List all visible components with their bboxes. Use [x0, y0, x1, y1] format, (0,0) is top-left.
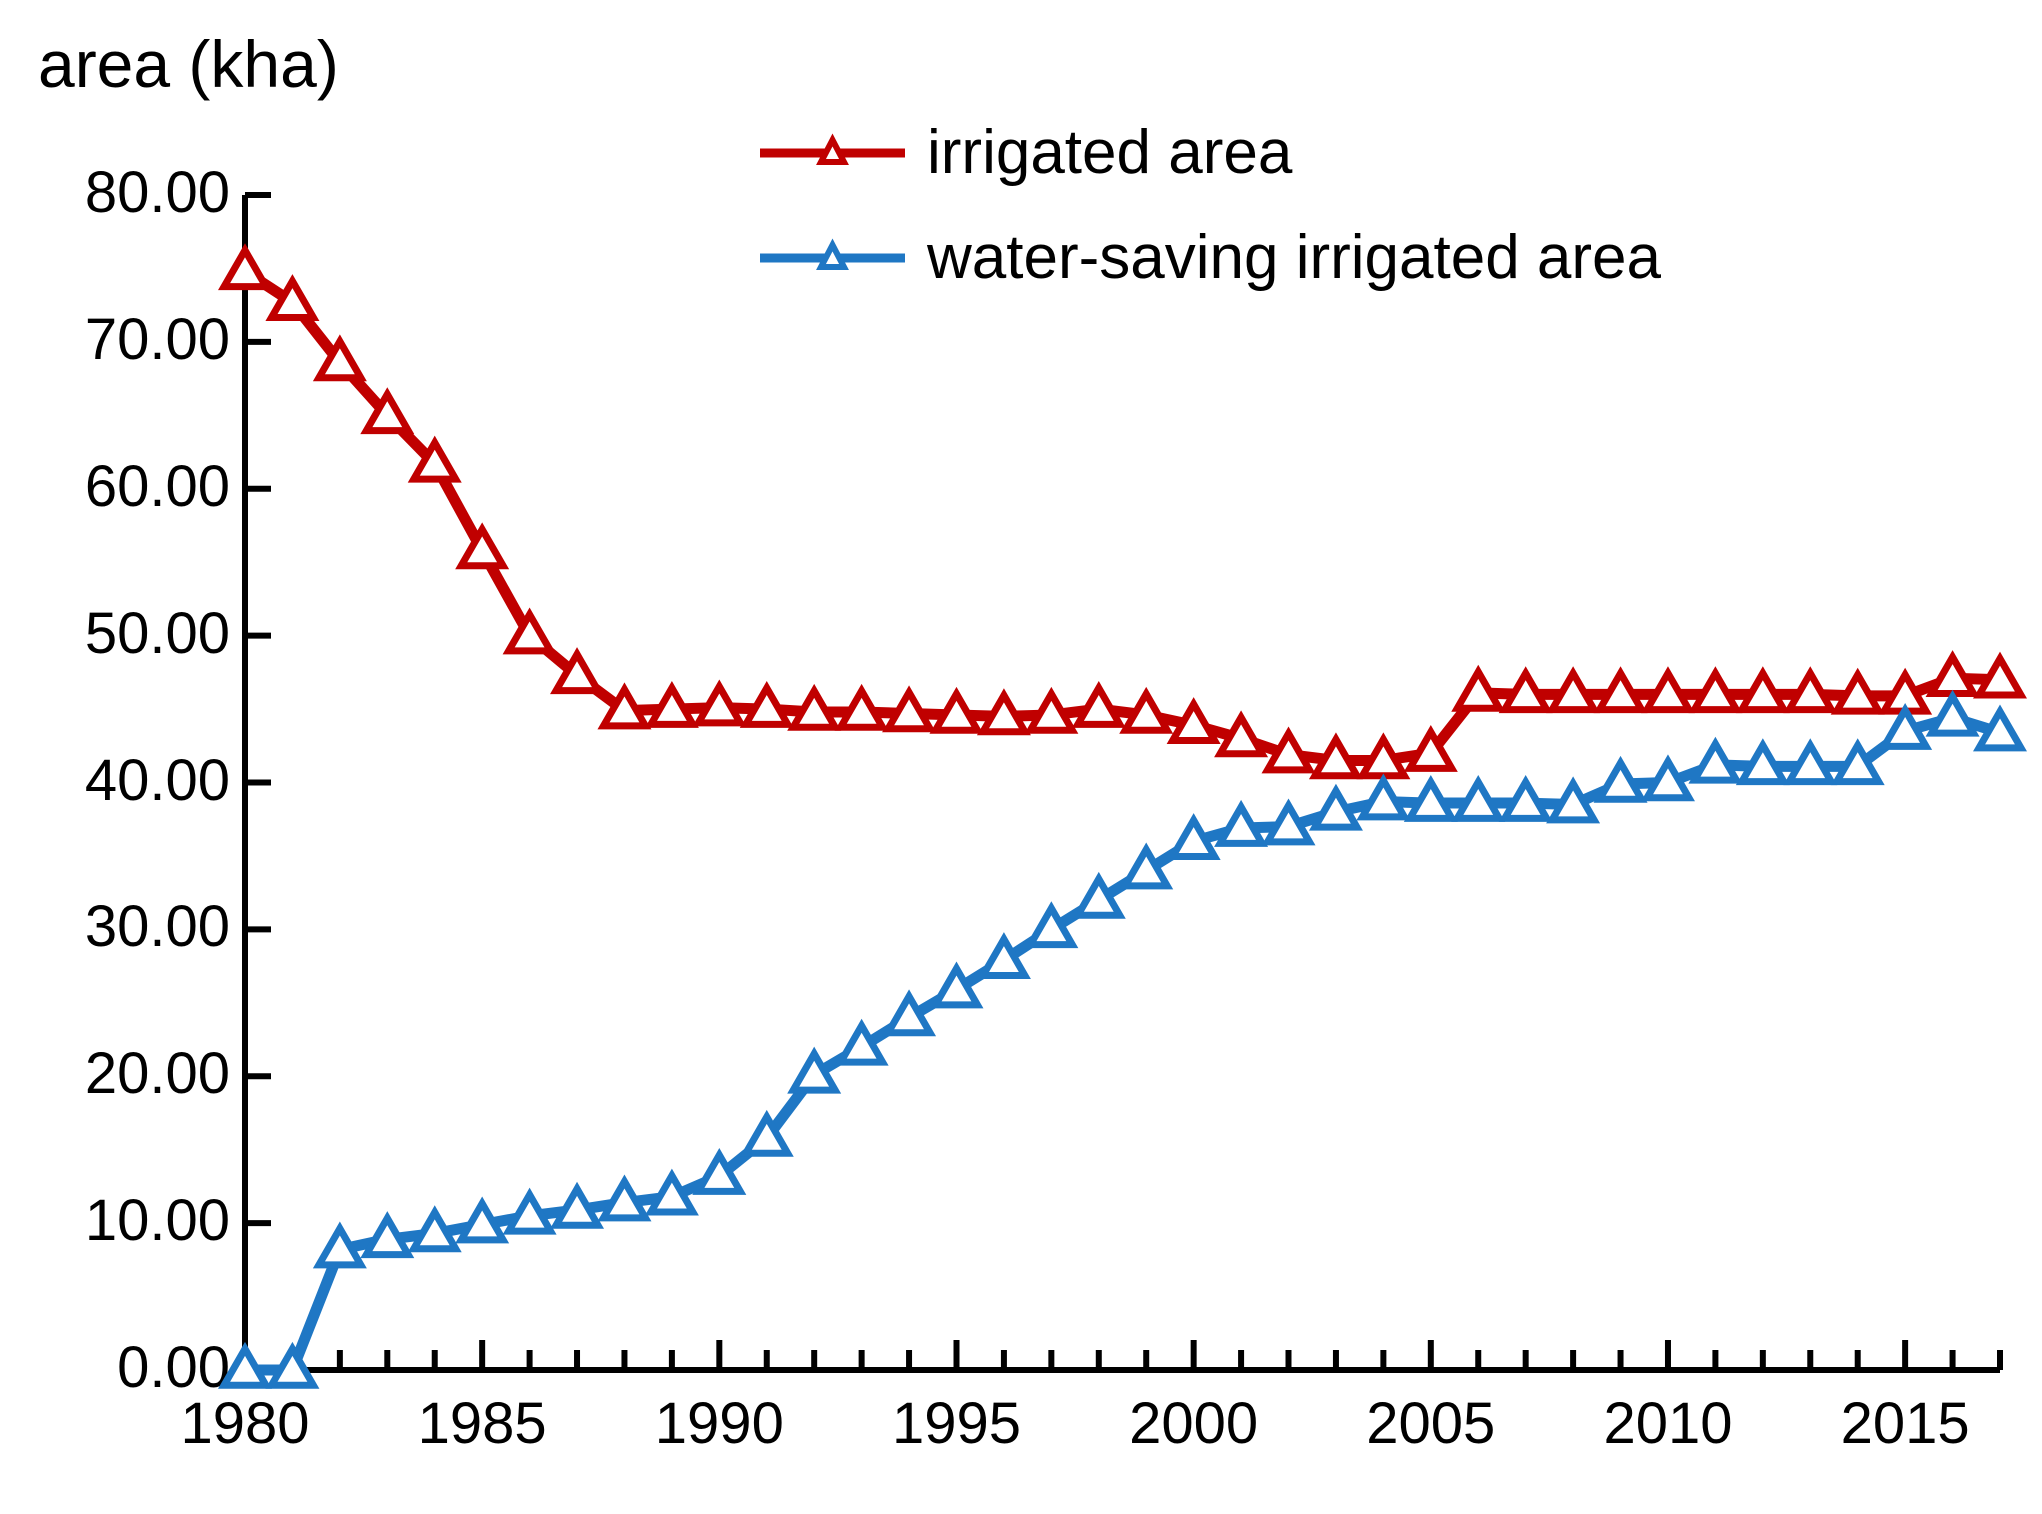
x-axis-tick-label: 1980 — [180, 1390, 309, 1457]
y-axis-tick-label: 50.00 — [20, 600, 230, 667]
x-axis-tick-labels: 19801985199019952000200520102015 — [245, 1390, 2000, 1480]
y-axis-tick-label: 60.00 — [20, 453, 230, 520]
x-axis-tick-label: 2000 — [1129, 1390, 1258, 1457]
y-axis-tick-label: 20.00 — [20, 1040, 230, 1107]
y-axis-tick-label: 80.00 — [20, 159, 230, 226]
y-axis-tick-label: 30.00 — [20, 893, 230, 960]
x-axis-tick-label: 2005 — [1366, 1390, 1495, 1457]
series-2 — [224, 697, 2021, 1386]
y-axis-tick-label: 10.00 — [20, 1187, 230, 1254]
x-axis-tick-label: 1990 — [655, 1390, 784, 1457]
x-axis-tick-label: 1995 — [892, 1390, 1021, 1457]
data-point-marker — [1932, 697, 1974, 733]
plot-area — [245, 195, 2000, 1370]
x-axis-tick-label: 2010 — [1603, 1390, 1732, 1457]
legend-label: irrigated area — [927, 117, 1292, 188]
data-point-marker — [224, 250, 266, 286]
series-line — [245, 271, 2000, 760]
plot-svg — [245, 195, 2000, 1370]
y-axis-tick-label: 40.00 — [20, 747, 230, 814]
x-axis-tick-label: 1985 — [418, 1390, 547, 1457]
legend-marker-icon — [760, 129, 905, 177]
y-axis-tick-label: 70.00 — [20, 306, 230, 373]
chart-figure: area (kha) 80.0070.0060.0050.0040.0030.0… — [0, 0, 2042, 1514]
series-line — [245, 718, 2000, 1370]
y-axis-tick-labels: 80.0070.0060.0050.0040.0030.0020.0010.00… — [18, 195, 230, 1370]
legend-triangle-icon — [821, 140, 844, 162]
series-1 — [224, 250, 2021, 775]
y-axis-title: area (kha) — [38, 26, 339, 102]
x-axis-tick-label: 2015 — [1841, 1390, 1970, 1457]
legend-item-1[interactable]: irrigated area — [760, 100, 1661, 205]
